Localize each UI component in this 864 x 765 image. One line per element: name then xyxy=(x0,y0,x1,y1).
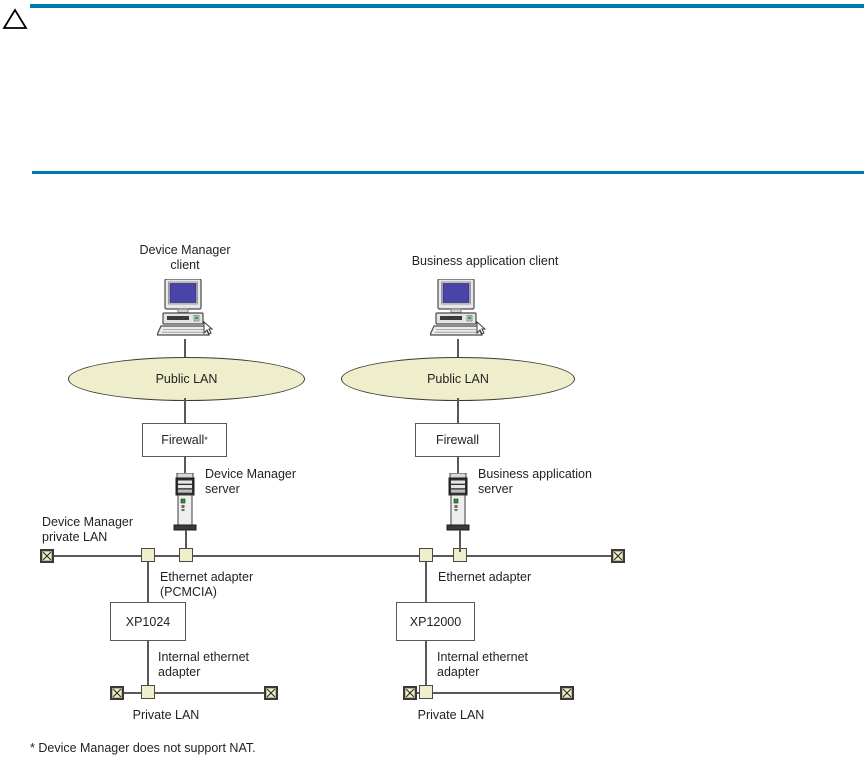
bus-terminator-icon xyxy=(110,686,124,700)
caution-triangle-icon xyxy=(2,8,28,30)
right-server-to-bus-line xyxy=(459,530,461,552)
right-array-box: XP12000 xyxy=(396,602,475,641)
right-adapter-label: Ethernet adapter xyxy=(438,570,598,585)
left-bus-to-array-line xyxy=(147,562,149,602)
left-firewall-box: Firewall* xyxy=(142,423,227,457)
bus-terminator-icon xyxy=(403,686,417,700)
tower-server-icon xyxy=(446,473,470,533)
left-server-label: Device Manager server xyxy=(205,467,355,497)
bus-terminator-icon xyxy=(560,686,574,700)
left-public-lan: Public LAN xyxy=(68,357,305,401)
left-client-label: Device Manager client xyxy=(105,243,265,273)
left-internal-adapter-label: Internal ethernet adapter xyxy=(158,650,318,680)
bus-terminator-icon xyxy=(611,549,625,563)
right-internal-adapter-label: Internal ethernet adapter xyxy=(437,650,597,680)
section-rule xyxy=(32,171,864,174)
left-array-box: XP1024 xyxy=(110,602,186,641)
right-public-lan: Public LAN xyxy=(341,357,575,401)
private-lan-bus-line xyxy=(46,555,618,557)
right-client-label: Business application client xyxy=(375,254,595,269)
right-firewall-label: Firewall xyxy=(436,433,479,447)
right-array-label: XP12000 xyxy=(410,615,461,629)
left-lan-to-firewall-line xyxy=(184,398,186,423)
left-array-label: XP1024 xyxy=(126,615,170,629)
right-lan-to-firewall-line xyxy=(457,398,459,423)
left-firewall-to-server-line xyxy=(184,456,186,474)
right-public-lan-label: Public LAN xyxy=(427,372,489,386)
right-array-to-private-lan-line xyxy=(425,640,427,691)
left-ethernet-adapter-node xyxy=(141,548,155,562)
right-private-lan-bottom-bus xyxy=(410,692,566,694)
right-firewall-to-server-line xyxy=(457,456,459,474)
header-rule xyxy=(30,4,864,8)
right-ethernet-adapter-node xyxy=(419,548,433,562)
right-internal-adapter-node xyxy=(419,685,433,699)
left-array-to-private-lan-line xyxy=(147,640,149,691)
right-bus-to-array-line xyxy=(425,562,427,602)
right-firewall-box: Firewall xyxy=(415,423,500,457)
left-private-lan-label: Device Manager private LAN xyxy=(42,515,192,545)
left-server-adapter-node xyxy=(179,548,193,562)
bus-terminator-icon xyxy=(40,549,54,563)
diagram-footnote: * Device Manager does not support NAT. xyxy=(30,741,256,755)
workstation-pc-icon xyxy=(430,279,486,339)
left-internal-adapter-node xyxy=(141,685,155,699)
left-firewall-label: Firewall xyxy=(161,433,204,447)
right-server-label: Business application server xyxy=(478,467,648,497)
bus-terminator-icon xyxy=(264,686,278,700)
workstation-pc-icon xyxy=(157,279,213,339)
left-bottom-lan-label: Private LAN xyxy=(101,708,231,723)
left-adapter-label: Ethernet adapter (PCMCIA) xyxy=(160,570,320,600)
left-private-lan-bottom-bus xyxy=(116,692,272,694)
right-bottom-lan-label: Private LAN xyxy=(386,708,516,723)
left-public-lan-label: Public LAN xyxy=(156,372,218,386)
